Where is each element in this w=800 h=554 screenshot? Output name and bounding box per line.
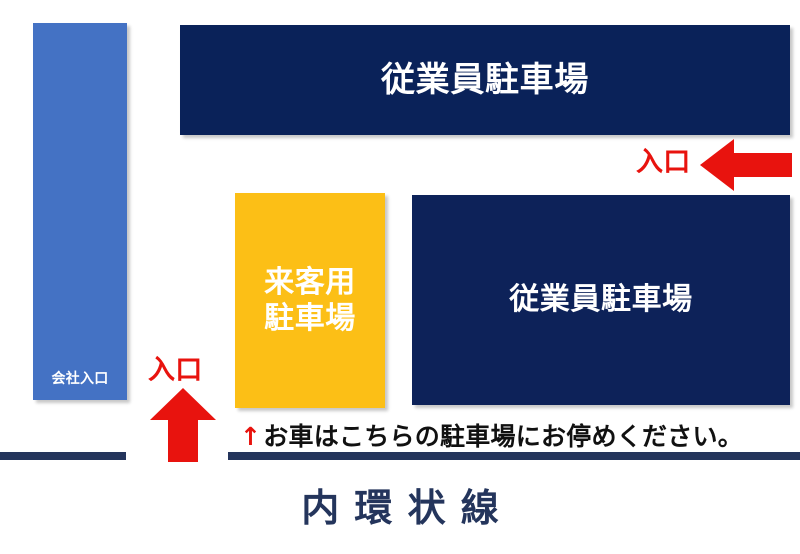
arrow-left-icon: [700, 139, 792, 191]
caption-up-arrow-icon: ↑: [240, 422, 261, 451]
entrance-right-label: 入口: [636, 140, 691, 179]
entrance-bottom-label: 入口: [148, 348, 203, 387]
company-entrance-block: 会社入口: [33, 23, 127, 400]
employee-parking-top-label: 従業員駐車場: [381, 60, 589, 100]
road-line-left-segment: [0, 452, 126, 460]
employee-parking-top-block: 従業員駐車場: [180, 25, 790, 135]
road-line-right-segment: [228, 452, 800, 460]
arrow-up-icon: [150, 388, 216, 462]
visitor-parking-label-line1: 来客用: [264, 265, 356, 300]
parking-instruction-caption: ↑お車はこちらの駐車場にお停めください。: [240, 417, 743, 453]
company-entrance-label: 会社入口: [51, 371, 108, 388]
road-name-label: 内環状線: [0, 477, 800, 532]
employee-parking-bottom-block: 従業員駐車場: [412, 195, 790, 405]
visitor-parking-block: 来客用 駐車場: [235, 193, 385, 408]
employee-parking-bottom-label: 従業員駐車場: [509, 282, 693, 317]
caption-text: お車はこちらの駐車場にお停めください。: [263, 422, 743, 451]
visitor-parking-label-line2: 駐車場: [264, 301, 356, 336]
parking-map: 会社入口 従業員駐車場 入口 来客用 駐車場 従業員駐車場 入口 ↑お車はこちら…: [0, 0, 800, 554]
